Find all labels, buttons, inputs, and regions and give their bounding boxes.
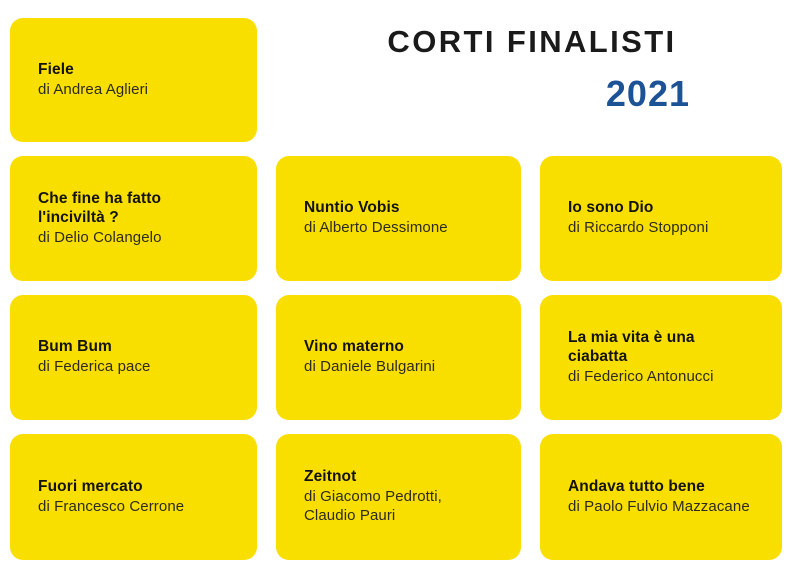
film-card[interactable]: Che fine ha fatto l'inciviltà ? di Delio… bbox=[10, 156, 257, 281]
film-author: di Alberto Dessimone bbox=[304, 219, 495, 238]
film-title: Fiele bbox=[38, 61, 231, 80]
film-author: di Riccardo Stopponi bbox=[568, 219, 756, 238]
film-author: di Daniele Bulgarini bbox=[304, 358, 495, 377]
film-card[interactable]: Io sono Dio di Riccardo Stopponi bbox=[540, 156, 782, 281]
film-title: Che fine ha fatto l'inciviltà ? bbox=[38, 190, 231, 228]
film-author: di Delio Colangelo bbox=[38, 229, 231, 248]
film-card[interactable]: Zeitnot di Giacomo Pedrotti, Claudio Pau… bbox=[276, 434, 521, 560]
film-title: Vino materno bbox=[304, 338, 495, 357]
film-author: di Federico Antonucci bbox=[568, 368, 756, 387]
film-title: Io sono Dio bbox=[568, 199, 756, 218]
film-card[interactable]: Fuori mercato di Francesco Cerrone bbox=[10, 434, 257, 560]
film-title: Zeitnot bbox=[304, 468, 495, 487]
grid-placeholder bbox=[540, 18, 782, 142]
film-title: Fuori mercato bbox=[38, 478, 231, 497]
film-title: Andava tutto bene bbox=[568, 478, 756, 497]
film-card[interactable]: Bum Bum di Federica pace bbox=[10, 295, 257, 420]
film-author: di Andrea Aglieri bbox=[38, 81, 231, 100]
grid-placeholder bbox=[276, 18, 521, 142]
film-card[interactable]: Nuntio Vobis di Alberto Dessimone bbox=[276, 156, 521, 281]
film-card[interactable]: Vino materno di Daniele Bulgarini bbox=[276, 295, 521, 420]
film-title: Nuntio Vobis bbox=[304, 199, 495, 218]
film-author: di Federica pace bbox=[38, 358, 231, 377]
film-title: La mia vita è una ciabatta bbox=[568, 329, 756, 367]
finalists-grid: Fiele di Andrea Aglieri Che fine ha fatt… bbox=[10, 18, 782, 562]
film-author: di Paolo Fulvio Mazzacane bbox=[568, 498, 756, 517]
poster-canvas: CORTI FINALISTI 2021 Fiele di Andrea Agl… bbox=[0, 0, 799, 586]
film-card[interactable]: Fiele di Andrea Aglieri bbox=[10, 18, 257, 142]
film-title: Bum Bum bbox=[38, 338, 231, 357]
film-card[interactable]: La mia vita è una ciabatta di Federico A… bbox=[540, 295, 782, 420]
film-card[interactable]: Andava tutto bene di Paolo Fulvio Mazzac… bbox=[540, 434, 782, 560]
film-author: di Giacomo Pedrotti, Claudio Pauri bbox=[304, 488, 495, 525]
film-author: di Francesco Cerrone bbox=[38, 498, 231, 517]
